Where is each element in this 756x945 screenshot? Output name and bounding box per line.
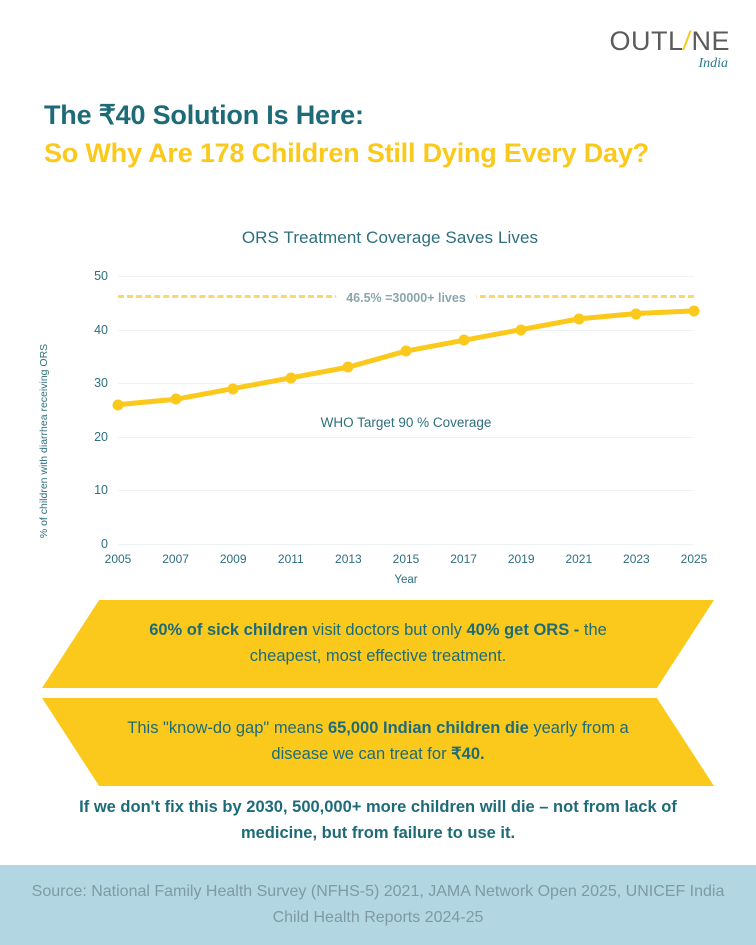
- y-axis-tick-label: 50: [94, 269, 108, 283]
- x-axis-tick-label: 2025: [681, 552, 708, 566]
- x-axis-label: Year: [394, 574, 417, 586]
- banner-emphasis: 60% of sick children: [149, 621, 308, 639]
- x-axis-tick-label: 2017: [450, 552, 477, 566]
- banner-emphasis: 40% get ORS -: [467, 621, 580, 639]
- page-title: The ₹40 Solution Is Here: So Why Are 178…: [44, 96, 704, 173]
- banner-know-do-gap: This "know-do gap" means 65,000 Indian c…: [42, 698, 714, 786]
- closing-statement: If we don't fix this by 2030, 500,000+ m…: [46, 795, 710, 846]
- x-axis-tick-label: 2007: [162, 552, 189, 566]
- data-point[interactable]: [401, 346, 412, 357]
- chart-title: ORS Treatment Coverage Saves Lives: [0, 228, 756, 248]
- x-axis-tick-label: 2019: [508, 552, 535, 566]
- x-axis-tick-label: 2015: [393, 552, 420, 566]
- data-point[interactable]: [631, 308, 642, 319]
- data-point[interactable]: [573, 313, 584, 324]
- source-text: Source: National Family Health Survey (N…: [28, 879, 728, 930]
- x-axis-tick-label: 2011: [278, 552, 304, 566]
- series-line: [118, 276, 694, 544]
- source-footer: Source: National Family Health Survey (N…: [0, 865, 756, 945]
- y-axis-tick-label: 30: [94, 376, 108, 390]
- data-point[interactable]: [516, 324, 527, 335]
- logo-wordmark: OUTL/NE: [609, 28, 730, 55]
- headline-line-2: So Why Are 178 Children Still Dying Ever…: [44, 134, 704, 172]
- plot-outer: % of children with diarrhea receiving OR…: [0, 266, 756, 566]
- x-axis-tick-label: 2023: [623, 552, 650, 566]
- data-point[interactable]: [113, 399, 124, 410]
- y-axis-tick-label: 20: [94, 430, 108, 444]
- gridline: [118, 544, 694, 545]
- data-point[interactable]: [285, 372, 296, 383]
- y-axis-tick-label: 10: [94, 483, 108, 497]
- banner-emphasis: ₹40.: [451, 745, 484, 763]
- headline-block: The ₹40 Solution Is Here: So Why Are 178…: [44, 96, 704, 173]
- x-axis-tick-label: 2021: [565, 552, 592, 566]
- logo-subtitle: India: [609, 57, 728, 71]
- y-axis-tick-label: 0: [101, 537, 108, 551]
- brand-logo: OUTL/NE India: [609, 28, 730, 71]
- data-point[interactable]: [689, 305, 700, 316]
- banner-emphasis: 65,000 Indian children die: [328, 719, 529, 737]
- y-axis-label: % of children with diarrhea receiving OR…: [38, 306, 51, 576]
- banner-plain: visit doctors but only: [308, 621, 467, 639]
- data-point[interactable]: [228, 383, 239, 394]
- logo-text-part2: NE: [691, 26, 730, 56]
- banner-text: 60% of sick children visit doctors but o…: [42, 618, 714, 669]
- data-point[interactable]: [343, 362, 354, 373]
- y-axis-tick-label: 40: [94, 323, 108, 337]
- logo-text-part1: OUTL: [609, 26, 683, 56]
- x-axis-tick-label: 2013: [335, 552, 362, 566]
- chart-container: ORS Treatment Coverage Saves Lives % of …: [0, 228, 756, 588]
- headline-line-1: The ₹40 Solution Is Here:: [44, 96, 704, 134]
- banner-text: This "know-do gap" means 65,000 Indian c…: [42, 716, 714, 767]
- x-axis-tick-label: 2009: [220, 552, 247, 566]
- banner-plain: This "know-do gap" means: [127, 719, 328, 737]
- plot-area: 0102030405020052007200920112013201520172…: [118, 276, 694, 544]
- data-point[interactable]: [170, 394, 181, 405]
- data-point[interactable]: [458, 335, 469, 346]
- x-axis-tick-label: 2005: [105, 552, 132, 566]
- banner-stat-ors: 60% of sick children visit doctors but o…: [42, 600, 714, 688]
